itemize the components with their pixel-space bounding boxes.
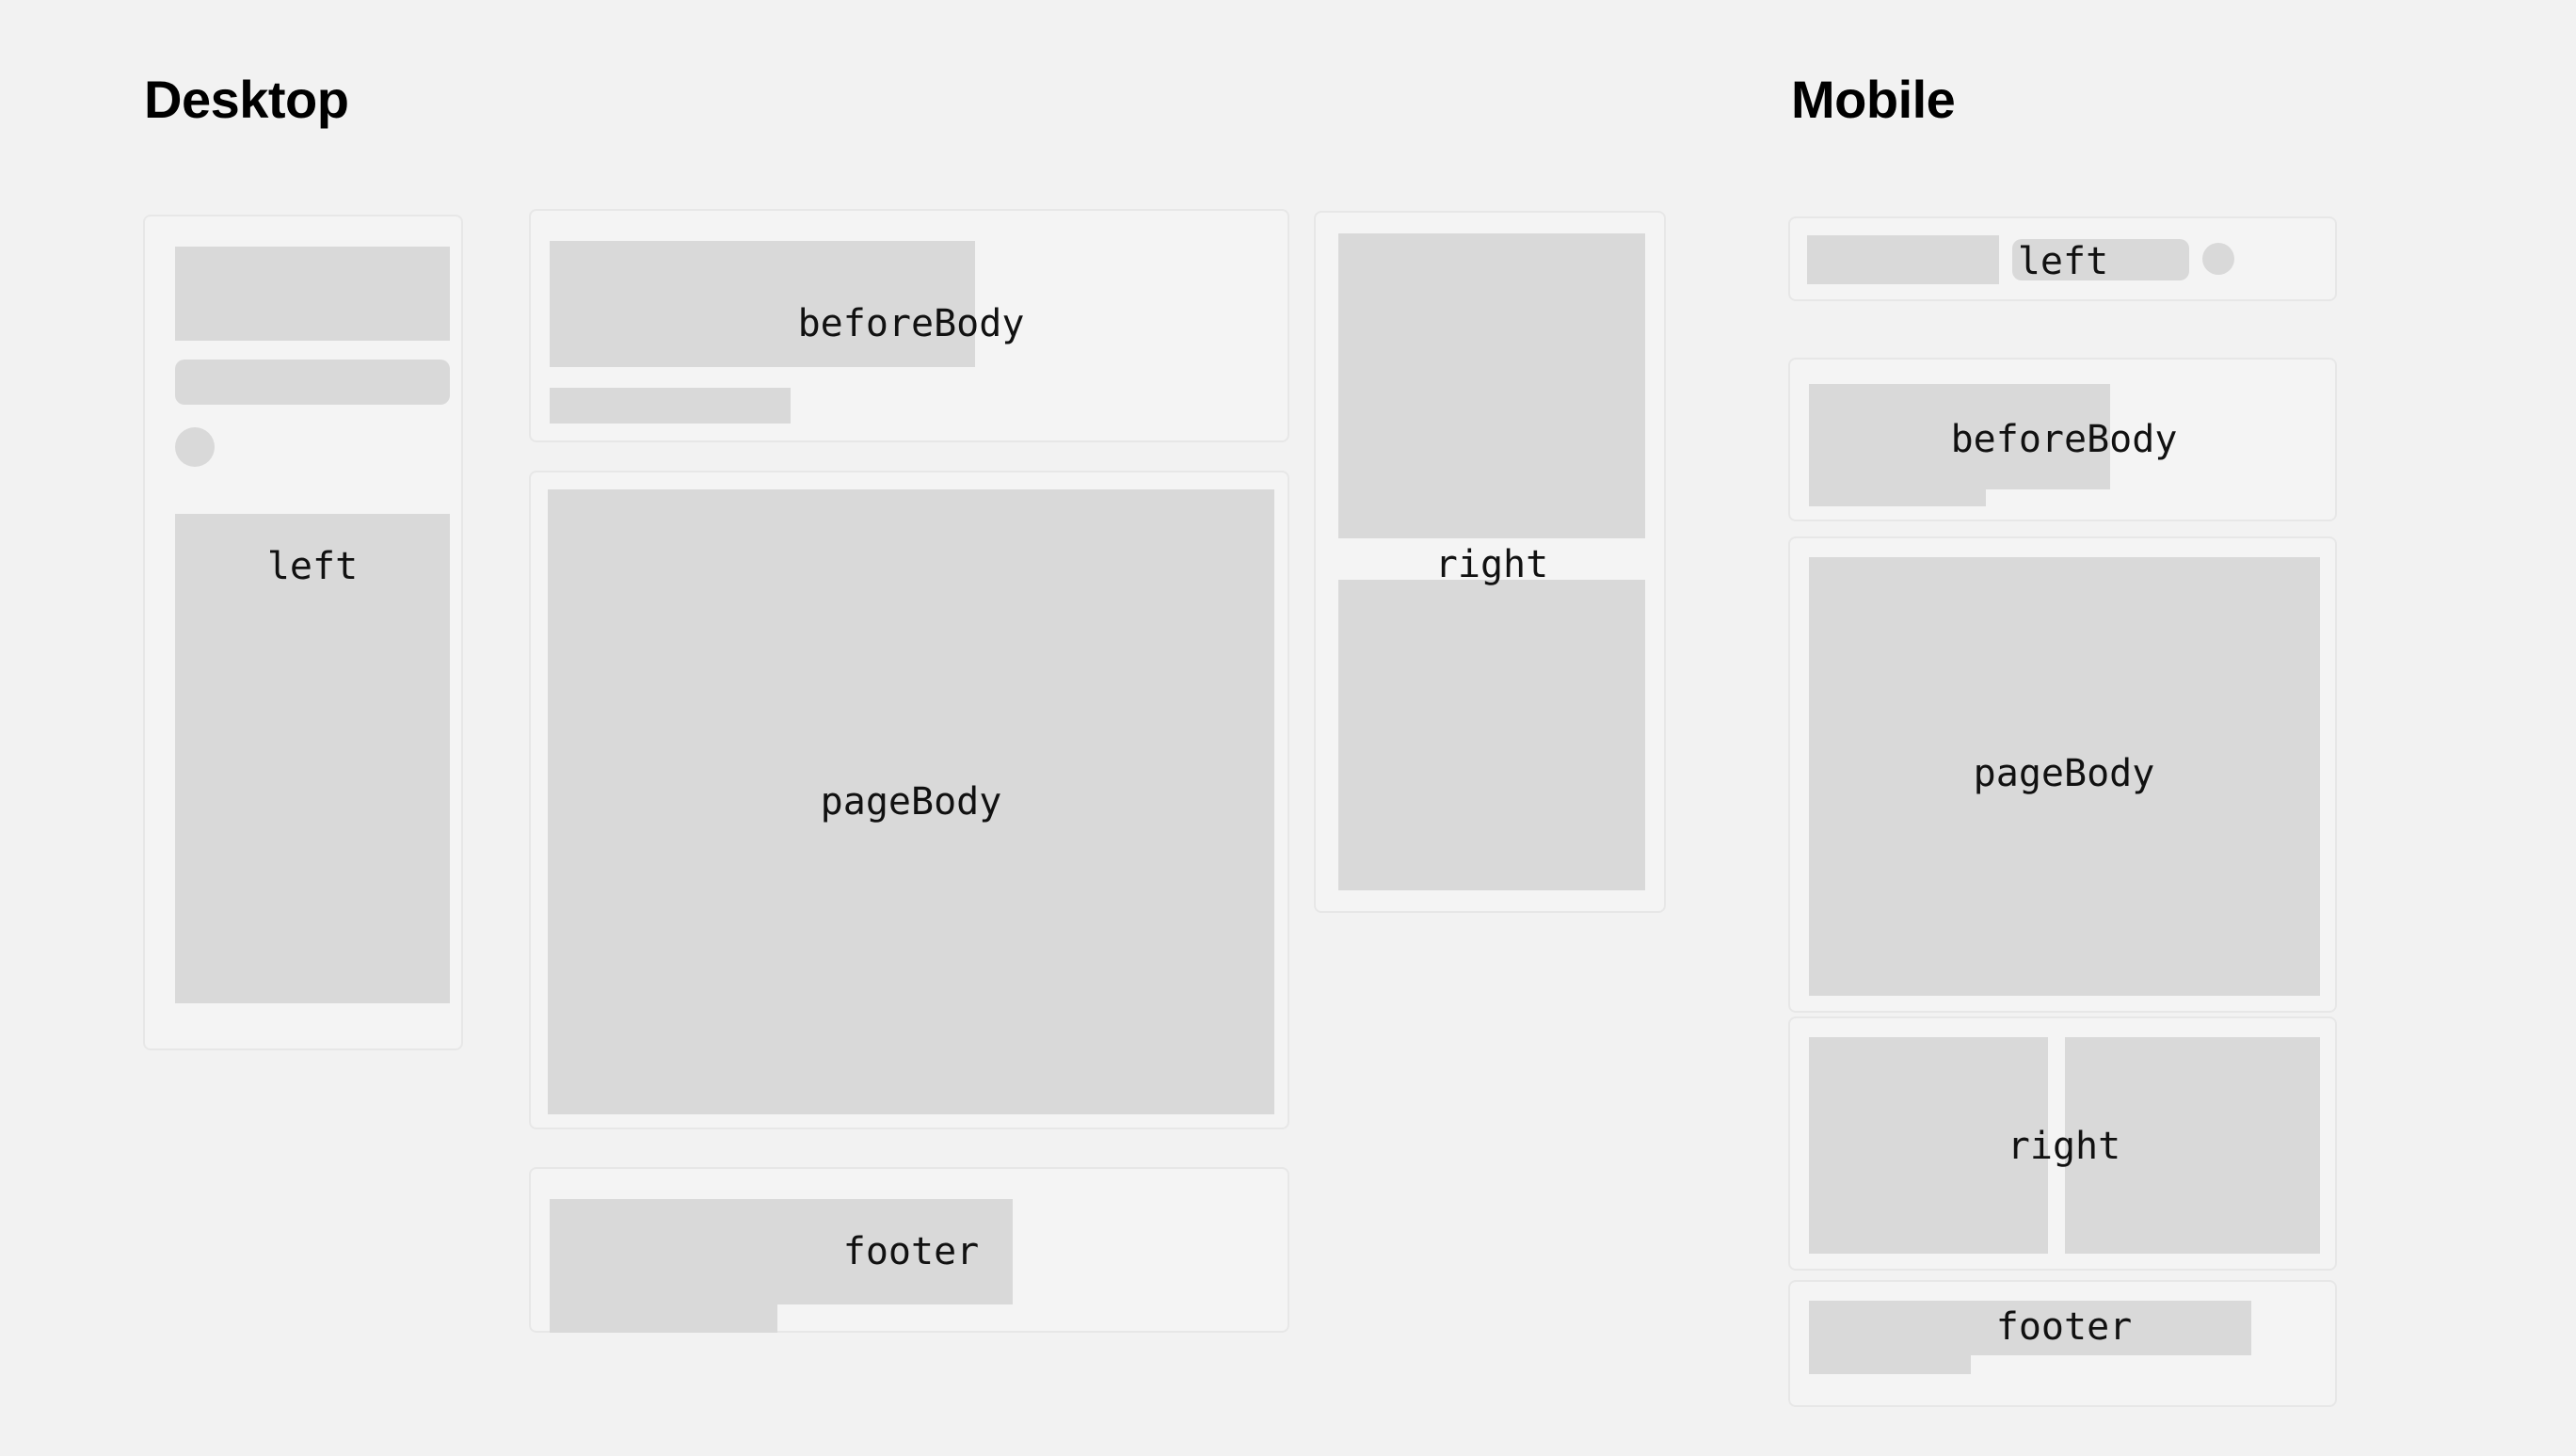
placeholder-circle [2202,243,2234,275]
placeholder-rect-left [1809,1037,2048,1254]
mobile-region-right[interactable]: right [1788,1016,2337,1271]
placeholder-rect [550,241,975,367]
mobile-region-left[interactable]: left [1788,216,2337,301]
desktop-region-pagebody[interactable]: pageBody [529,471,1289,1129]
placeholder-small-rect [1809,476,1986,506]
placeholder-rect [175,247,450,341]
placeholder-rect-right [2065,1037,2320,1254]
desktop-region-left[interactable]: left [143,215,463,1050]
placeholder-circle [175,427,215,467]
mobile-region-beforebody[interactable]: beforeBody [1788,358,2337,521]
placeholder-small-rect [550,1286,777,1333]
placeholder-rect-bottom [1338,580,1645,890]
desktop-region-right-label: right [1435,546,1548,584]
placeholder-rounded-rect [2012,239,2189,280]
placeholder-large-rect [548,489,1274,1114]
mobile-region-pagebody[interactable]: pageBody [1788,536,2337,1013]
placeholder-small-rect [550,388,791,424]
wireframe-canvas: Desktop left beforeBody pageBody right f… [0,0,2576,1456]
column-title-desktop: Desktop [144,73,348,126]
placeholder-rect-top [1338,233,1645,538]
desktop-region-beforebody[interactable]: beforeBody [529,209,1289,442]
desktop-region-right[interactable]: right [1314,211,1666,913]
placeholder-rect [1809,384,2110,489]
column-title-mobile: Mobile [1791,73,1955,126]
mobile-region-footer[interactable]: footer [1788,1280,2337,1407]
placeholder-rect [1807,235,1999,284]
desktop-region-footer[interactable]: footer [529,1167,1289,1333]
placeholder-tall-rect [175,514,450,1003]
placeholder-small-rect [1809,1346,1971,1374]
placeholder-large-rect [1809,557,2320,996]
placeholder-rounded-rect [175,360,450,405]
